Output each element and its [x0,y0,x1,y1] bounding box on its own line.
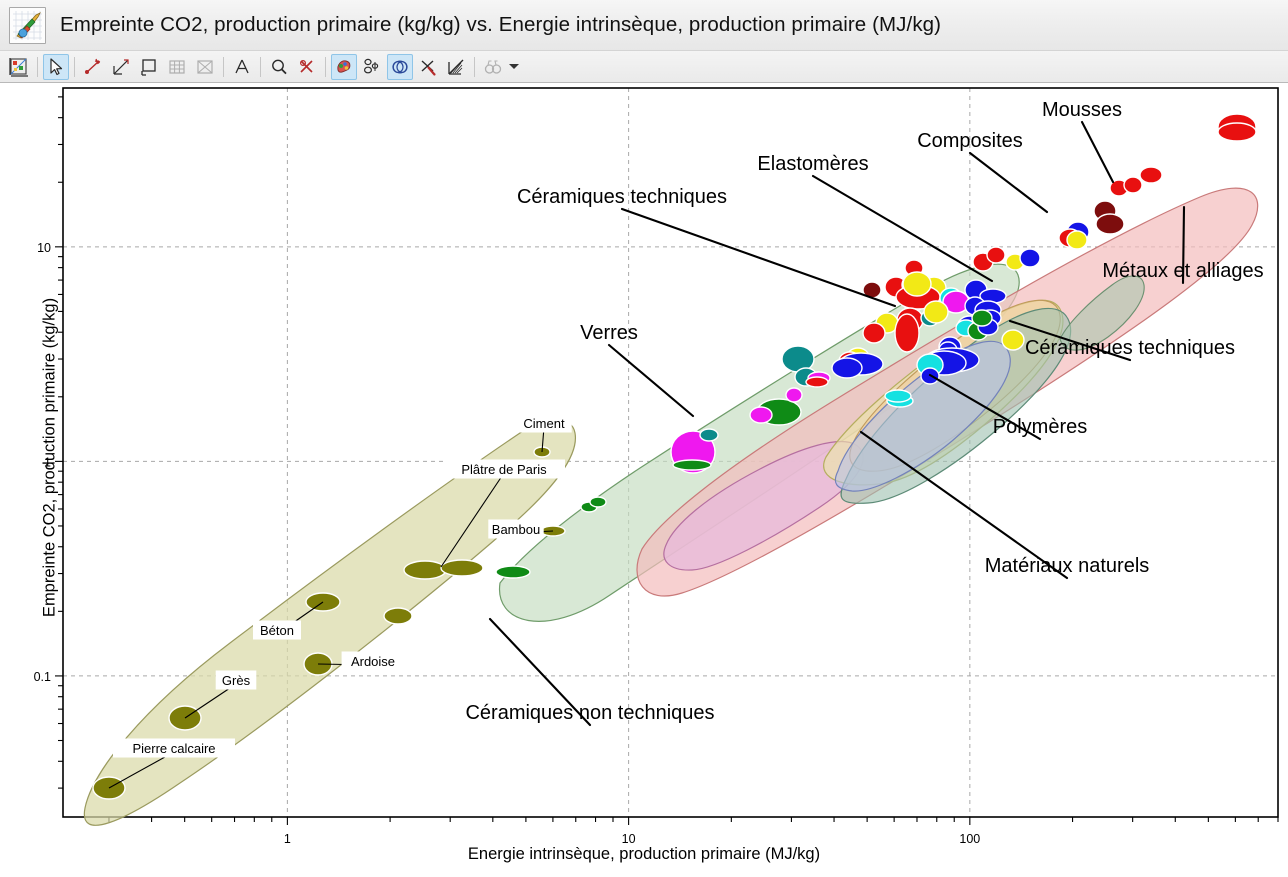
data-point[interactable] [384,608,412,624]
family-label: Métaux et alliages [1102,260,1263,282]
x-tick-label: 1 [284,832,291,846]
line-selection-icon[interactable] [80,54,106,80]
toolbar-separator [37,57,38,77]
family-label: Elastomères [757,153,868,175]
data-point[interactable] [700,429,718,441]
title-bar: Empreinte CO2, production primaire (kg/k… [0,0,1288,51]
text-annotation-icon[interactable] [229,54,255,80]
data-point[interactable] [903,272,931,296]
select-pointer-icon[interactable] [43,54,69,80]
point-label: Béton [254,621,301,639]
clear-envelope-icon[interactable] [192,54,218,80]
data-point[interactable] [1020,249,1040,267]
show-envelopes-icon[interactable] [387,54,413,80]
x-tick-label: 100 [959,832,980,846]
data-point[interactable] [806,377,828,387]
data-point[interactable] [885,390,911,402]
data-point[interactable] [673,460,711,470]
find-similar-icon[interactable] [480,54,506,80]
hide-labels-icon[interactable] [415,54,441,80]
data-point[interactable] [1002,330,1024,350]
data-point[interactable] [590,497,606,507]
point-label: Bambou [489,520,543,538]
point-label-text: Pierre calcaire [132,741,215,756]
data-point[interactable] [496,566,530,578]
family-label: Céramiques techniques [1025,337,1235,359]
chart-arrow-icon [9,7,46,44]
application-window: Empreinte CO2, production primaire (kg/k… [0,0,1288,877]
data-point[interactable] [895,314,919,352]
point-label-text: Bambou [492,522,540,537]
data-point[interactable] [441,560,483,576]
data-point[interactable] [924,301,948,323]
point-label: Ciment [517,414,571,432]
zoom-icon[interactable] [266,54,292,80]
point-label-text: Béton [260,623,294,638]
show-records-icon[interactable] [359,54,385,80]
box-selection-icon[interactable] [136,54,162,80]
show-colors-icon[interactable] [331,54,357,80]
point-label: Plâtre de Paris [444,460,565,478]
data-point[interactable] [972,310,992,326]
window-title: Empreinte CO2, production primaire (kg/k… [60,13,941,37]
data-point[interactable] [1218,123,1256,141]
y-tick-label: 10 [37,241,51,255]
x-tick-label: 10 [622,832,636,846]
zoom-reset-icon[interactable] [294,54,320,80]
family-label: Composites [917,130,1023,152]
family-label: Céramiques non techniques [465,702,714,724]
gradient-line-icon[interactable] [108,54,134,80]
data-point[interactable] [1067,231,1087,249]
point-label: Pierre calcaire [114,739,235,757]
point-label: Ardoise [342,652,404,670]
trendline-icon[interactable] [443,54,469,80]
edit-chart-icon[interactable] [6,54,32,80]
family-label: Verres [580,322,638,344]
chevron-down-icon[interactable] [507,54,521,80]
toolbar-separator [74,57,75,77]
family-label: Matériaux naturels [985,555,1150,577]
chart-canvas[interactable]: MoussesCompositesElastomèresCéramiques t… [0,83,1288,877]
grid-envelope-icon[interactable] [164,54,190,80]
data-point[interactable] [404,561,446,579]
point-label-text: Plâtre de Paris [461,462,547,477]
point-label-text: Grès [222,673,251,688]
data-point[interactable] [750,407,772,423]
point-label-text: Ardoise [351,654,395,669]
y-tick-label: 0.1 [34,670,51,684]
point-label: Grès [216,671,256,689]
data-point[interactable] [863,323,885,343]
toolbar [0,51,1288,83]
data-point[interactable] [1096,214,1124,234]
data-point[interactable] [987,247,1005,263]
family-label: Mousses [1042,99,1122,121]
family-label: Polymères [993,416,1087,438]
toolbar-separator [325,57,326,77]
y-tick-label: 1 [44,455,51,469]
scatter-plot[interactable]: MoussesCompositesElastomèresCéramiques t… [0,83,1288,877]
point-label-text: Ciment [523,416,565,431]
data-point[interactable] [1124,177,1142,193]
data-point[interactable] [1140,167,1162,183]
toolbar-separator [260,57,261,77]
data-point[interactable] [832,358,862,378]
family-label: Céramiques techniques [517,186,727,208]
data-point[interactable] [786,388,802,402]
toolbar-separator [474,57,475,77]
toolbar-separator [223,57,224,77]
